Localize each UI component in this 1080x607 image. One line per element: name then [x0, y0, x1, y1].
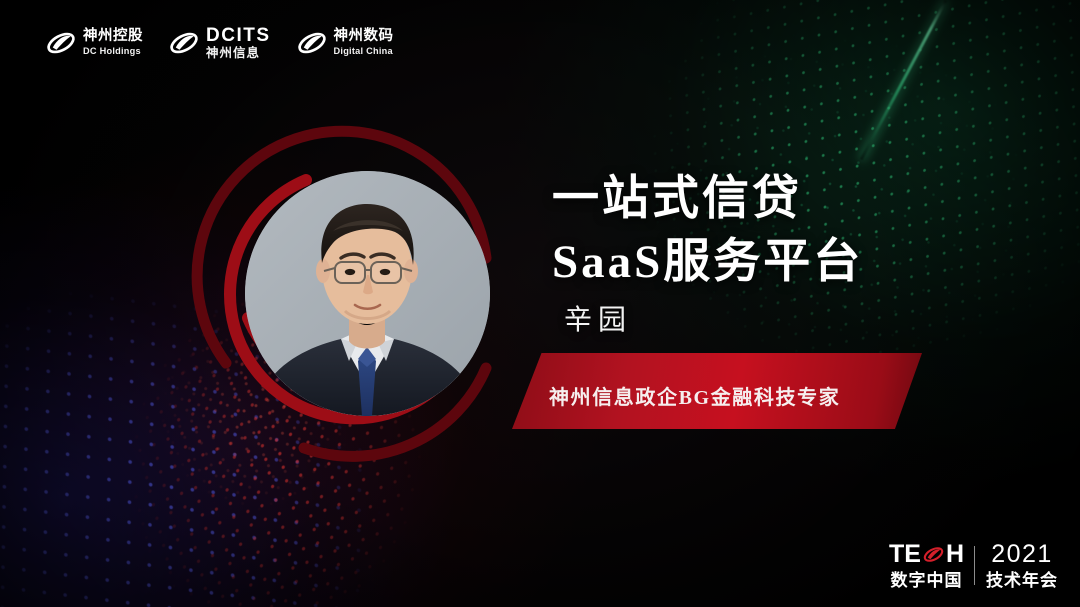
title-line-2: SaaS服务平台 [552, 231, 863, 294]
tech-prefix: TE [889, 542, 921, 567]
dc-swoosh-icon [46, 28, 76, 58]
logo-dc-holdings: 神州控股 DC Holdings [46, 28, 169, 58]
corporate-logo-bar: 神州控股 DC Holdings DCITS 神州信息 神州数码 Digital… [46, 26, 420, 60]
event-logo-left: TE H 数字中国 [889, 542, 974, 589]
tech-wordmark: TE H [889, 542, 964, 567]
speaker-name: 辛园 [564, 298, 632, 338]
speaker-headshot-image [245, 171, 490, 416]
event-subtitle-cn: 技术年会 [986, 572, 1058, 589]
logo-dcits: DCITS 神州信息 [169, 26, 297, 60]
logo-digital-china-cn: 神州数码 [334, 29, 394, 44]
dc-swoosh-icon [297, 28, 327, 58]
speaker-role-text: 神州信息政企BG金融科技专家 [549, 381, 840, 410]
logo-dc-holdings-en: DC Holdings [83, 47, 143, 56]
event-logo: TE H 数字中国 2021 技术年会 [889, 542, 1058, 589]
logo-dc-holdings-text: 神州控股 DC Holdings [83, 29, 143, 56]
logo-digital-china-en: Digital China [334, 47, 394, 56]
logo-dcits-text: DCITS 神州信息 [206, 26, 271, 60]
dc-swoosh-icon [169, 28, 199, 58]
title-line-1: 一站式信贷 [552, 168, 863, 231]
speaker-portrait-zone [192, 128, 540, 480]
presentation-slide: 神州控股 DC Holdings DCITS 神州信息 神州数码 Digital… [0, 0, 1080, 607]
dc-swoosh-icon [922, 544, 945, 565]
logo-dcits-en: 神州信息 [206, 47, 271, 60]
tech-suffix: H [946, 542, 964, 567]
logo-digital-china: 神州数码 Digital China [297, 28, 420, 58]
logo-digital-china-text: 神州数码 Digital China [334, 29, 394, 56]
event-logo-right: 2021 技术年会 [975, 542, 1058, 589]
logo-dc-holdings-cn: 神州控股 [83, 29, 143, 44]
event-year: 2021 [991, 542, 1053, 567]
avatar [245, 171, 490, 416]
logo-dcits-cn: DCITS [206, 26, 271, 45]
event-name-cn: 数字中国 [890, 572, 962, 589]
page-title: 一站式信贷 SaaS服务平台 [552, 168, 863, 293]
